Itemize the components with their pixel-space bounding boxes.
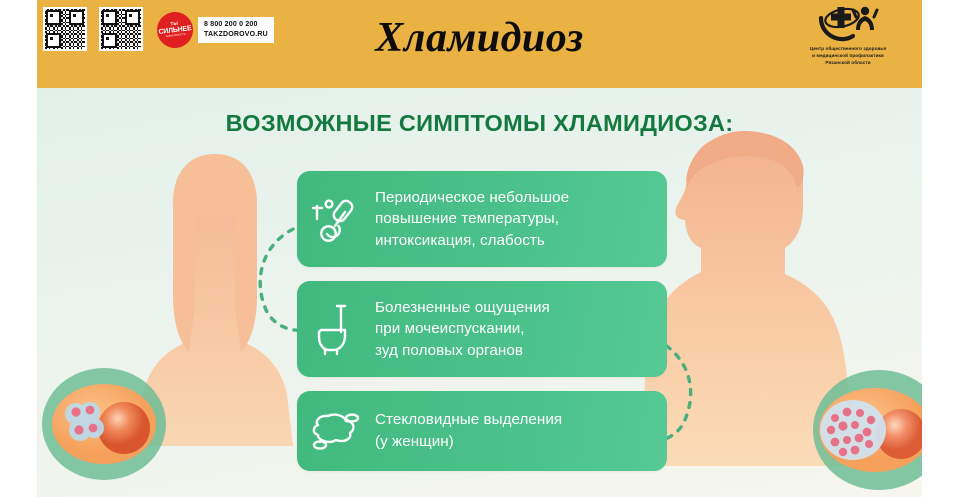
header-band: ТЫ СИЛЬНЕЕ ЗАВИСИМОСТИ 8 800 200 0 200 T…: [37, 0, 922, 88]
symptom-text: Периодическое небольшое повышение темпер…: [375, 187, 581, 252]
discharge-drop-icon: [297, 409, 375, 453]
organization-name: Центр общественного здоровья и медицинск…: [784, 45, 912, 66]
content-stage: ВОЗМОЖНЫЕ СИМПТОМЫ ХЛАМИДИОЗА:: [37, 88, 922, 497]
symptom-card-list: Периодическое небольшое повышение темпер…: [297, 171, 667, 485]
symptom-text: Стекловидные выделения (у женщин): [375, 409, 574, 452]
thermometer-icon: [297, 192, 375, 246]
infected-cell-left: [37, 356, 182, 497]
symptom-text: Болезненные ощущения при мочеиспускании,…: [375, 297, 562, 362]
symptom-card-discharge[interactable]: Стекловидные выделения (у женщин): [297, 391, 667, 471]
poster: ТЫ СИЛЬНЕЕ ЗАВИСИМОСТИ 8 800 200 0 200 T…: [37, 0, 922, 497]
symptom-card-urination[interactable]: Болезненные ощущения при мочеиспускании,…: [297, 281, 667, 377]
toilet-icon: [297, 302, 375, 356]
medical-cross-emblem-icon: [784, 4, 912, 44]
organization-logo: Центр общественного здоровья и медицинск…: [784, 4, 912, 66]
infected-cell-right: [797, 358, 922, 497]
symptom-card-temperature[interactable]: Периодическое небольшое повышение темпер…: [297, 171, 667, 267]
